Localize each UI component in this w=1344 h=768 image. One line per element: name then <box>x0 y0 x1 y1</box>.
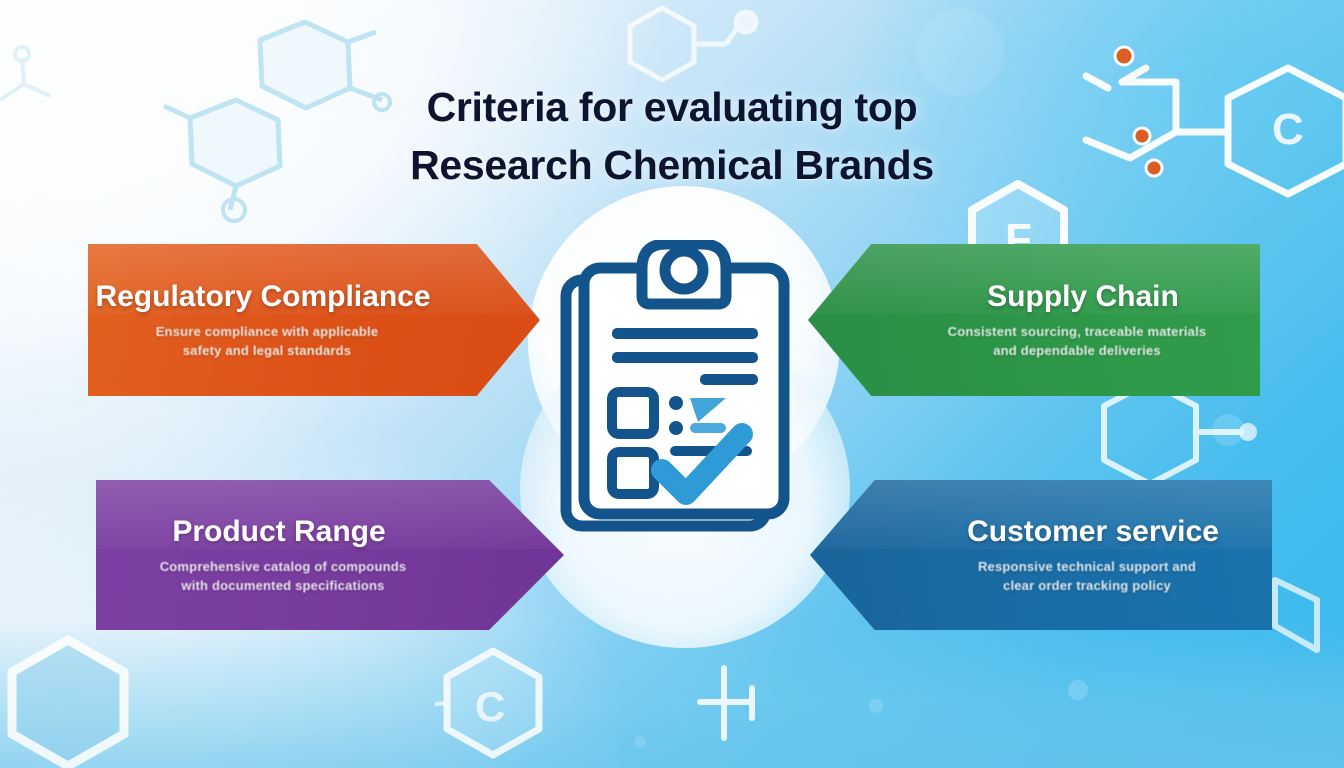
title-line-2: Research Chemical Brands <box>0 136 1344 194</box>
banner-title-supply: Supply Chain <box>987 280 1179 313</box>
svg-text:F: F <box>50 681 81 737</box>
banner-subtitle-customer: Responsive technical support and clear o… <box>978 558 1196 596</box>
banner-subtitle-line-2: with documented specifications <box>181 578 384 593</box>
banner-subtitle-product: Comprehensive catalog of compounds with … <box>160 558 407 596</box>
page-title: Criteria for evaluating top Research Che… <box>0 78 1344 194</box>
clipboard-checklist-icon <box>556 240 794 540</box>
banner-subtitle-regulatory: Ensure compliance with applicable safety… <box>156 323 379 361</box>
svg-text:C: C <box>475 683 505 730</box>
banner-title-customer: Customer service <box>967 515 1219 548</box>
molecule-decoration-bottom-center <box>690 658 810 758</box>
hexagon-fluorine-bottom-left: F <box>0 634 140 768</box>
banner-subtitle-supply: Consistent sourcing, traceable materials… <box>948 323 1207 361</box>
banner-subtitle-line-2: safety and legal standards <box>183 343 351 358</box>
hexagon-carbon-bottom-center: C <box>435 645 555 765</box>
banner-subtitle-line-1: Ensure compliance with applicable <box>156 324 379 339</box>
banner-title-regulatory: Regulatory Compliance <box>95 280 430 313</box>
banner-regulatory-compliance[interactable]: Regulatory Compliance Ensure compliance … <box>88 244 540 396</box>
banner-supply-chain[interactable]: Supply Chain Consistent sourcing, tracea… <box>808 244 1260 396</box>
infographic-canvas: C F F C <box>0 0 1344 768</box>
banner-subtitle-line-1: Consistent sourcing, traceable materials <box>948 324 1207 339</box>
banner-subtitle-line-1: Responsive technical support and <box>978 559 1196 574</box>
banner-title-product: Product Range <box>172 515 385 548</box>
title-line-1: Criteria for evaluating top <box>0 78 1344 136</box>
banner-product-range[interactable]: Product Range Comprehensive catalog of c… <box>96 480 564 630</box>
banner-subtitle-line-1: Comprehensive catalog of compounds <box>160 559 407 574</box>
banner-subtitle-line-2: and dependable deliveries <box>993 343 1161 358</box>
banner-customer-service[interactable]: Customer service Responsive technical su… <box>810 480 1272 630</box>
banner-subtitle-line-2: clear order tracking policy <box>1003 578 1171 593</box>
